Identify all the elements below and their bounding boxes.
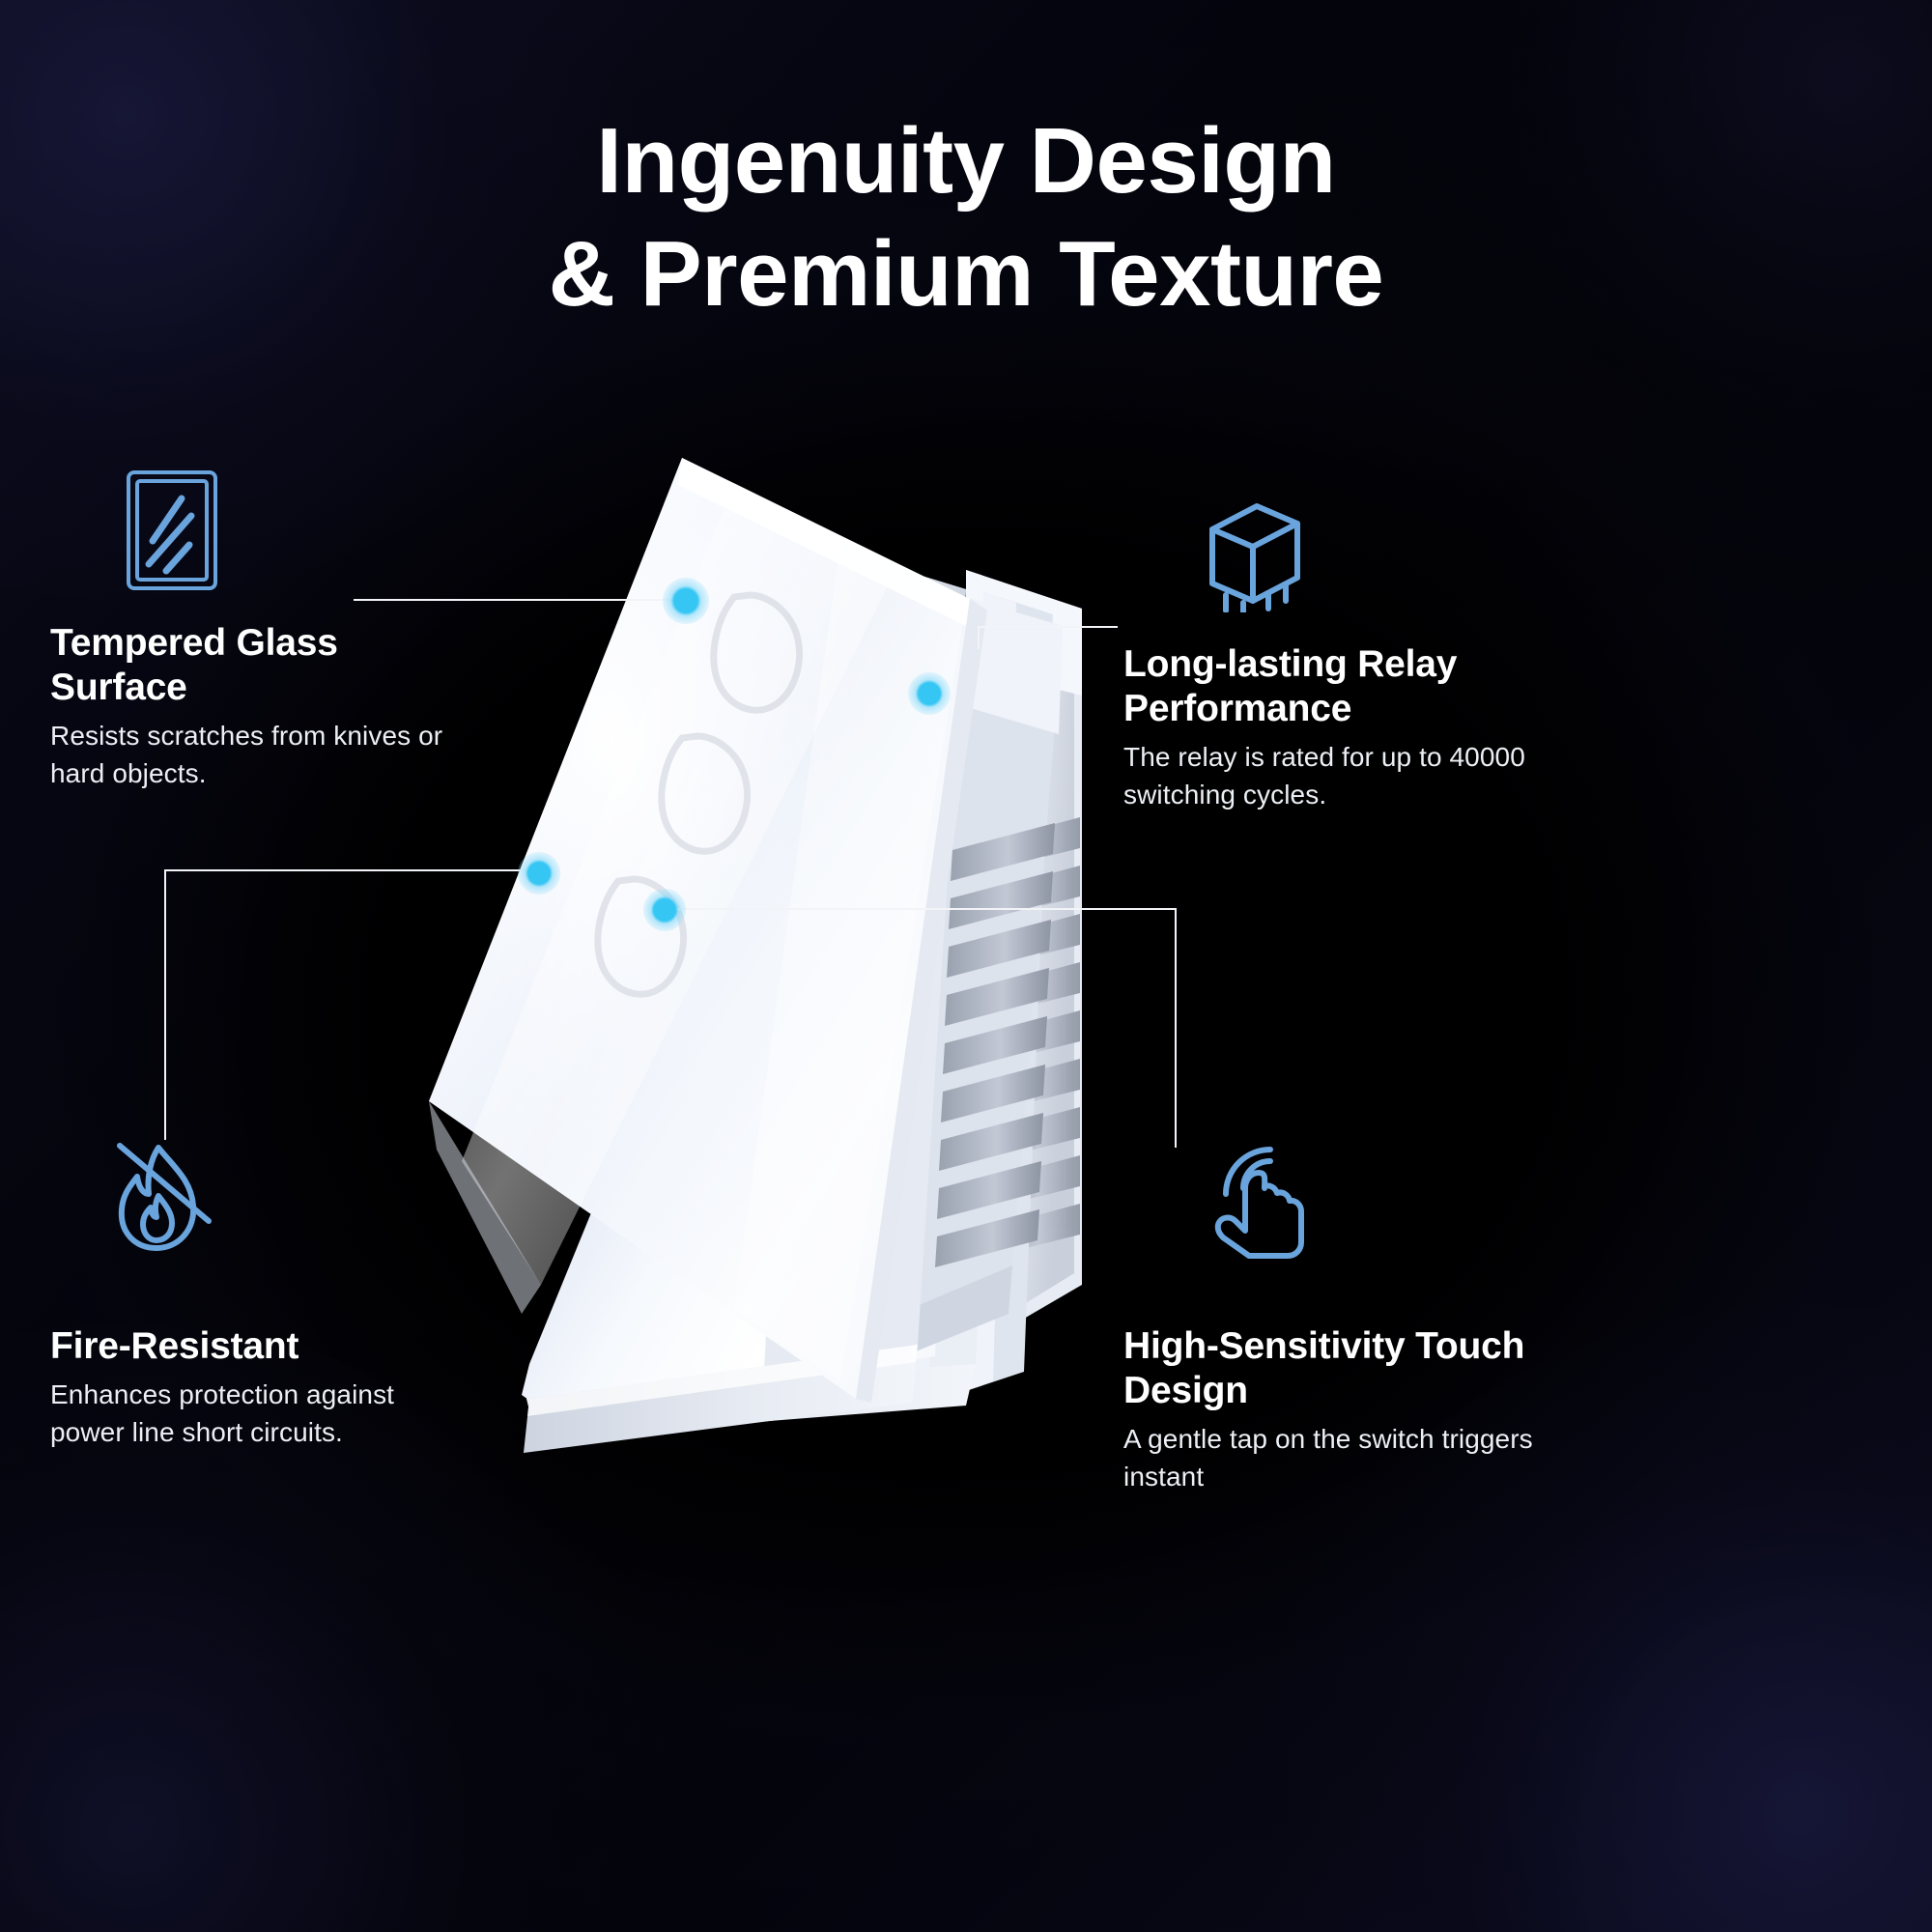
feature-tempered-glass-surface: Tempered Glass Surface Resists scratches… — [50, 469, 466, 792]
feature-fire-resistant: Fire-Resistant Enhances protection again… — [50, 1138, 437, 1451]
led-indicator-4 — [643, 889, 686, 931]
feature-heading: Tempered Glass Surface — [50, 621, 466, 710]
relay-icon — [1201, 500, 1558, 617]
glass-panel-icon — [126, 469, 466, 596]
touch-gesture-icon — [1199, 1138, 1577, 1264]
feature-body: Resists scratches from knives or hard ob… — [50, 718, 466, 792]
feature-long-lasting-relay-performance: Long-lasting Relay Performance The relay… — [1123, 500, 1558, 813]
page-title-line-1: Ingenuity Design — [596, 109, 1335, 213]
feature-body: Enhances protection against power line s… — [50, 1377, 437, 1451]
no-fire-icon — [99, 1138, 437, 1264]
feature-high-sensitivity-touch-design: High-Sensitivity Touch Design A gentle t… — [1123, 1138, 1577, 1495]
connector-line-touch-vertical — [1175, 908, 1177, 1148]
connector-line-touch-horizontal — [667, 908, 1177, 910]
feature-body: The relay is rated for up to 40000 switc… — [1123, 739, 1558, 813]
connector-line-relay-horizontal — [978, 626, 1118, 628]
connector-line-fire-horizontal — [164, 869, 551, 871]
connector-line-relay-vertical — [978, 626, 980, 649]
feature-heading: Long-lasting Relay Performance — [1123, 642, 1558, 731]
connector-line-fire-vertical — [164, 869, 166, 1140]
feature-body: A gentle tap on the switch triggers inst… — [1123, 1421, 1577, 1495]
feature-heading: High-Sensitivity Touch Design — [1123, 1324, 1577, 1413]
led-indicator-2 — [908, 672, 951, 715]
page-title-line-2: & Premium Texture — [0, 217, 1932, 330]
wall-switch-device — [424, 455, 1063, 1453]
page-title: Ingenuity Design & Premium Texture — [0, 104, 1932, 330]
led-indicator-1 — [663, 578, 709, 624]
led-indicator-3 — [518, 852, 560, 895]
feature-heading: Fire-Resistant — [50, 1324, 437, 1369]
infographic-canvas: Ingenuity Design & Premium Texture — [0, 0, 1932, 1932]
